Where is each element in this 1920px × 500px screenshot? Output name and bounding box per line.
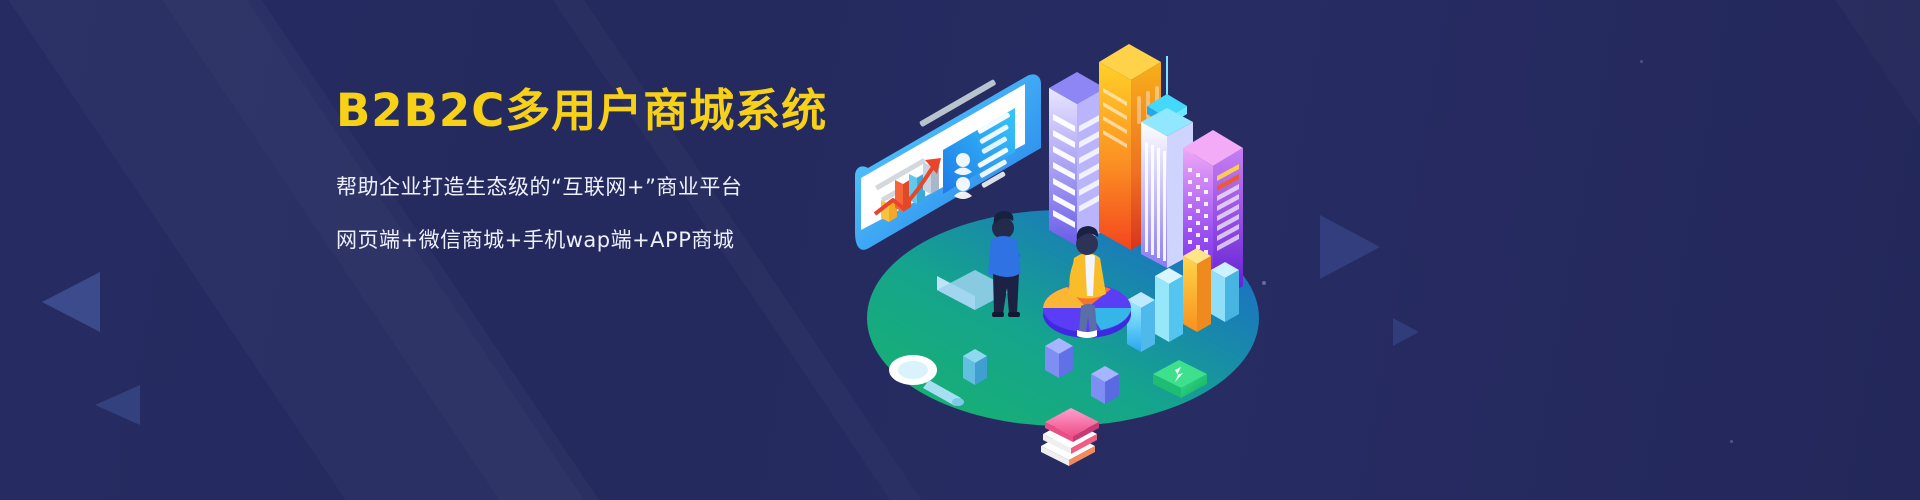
dot-decoration xyxy=(1730,440,1733,443)
triangle-decoration xyxy=(95,385,140,425)
promo-banner: B2B2C多用户商城系统 帮助企业打造生态级的“互联网+”商业平台 网页端+微信… xyxy=(0,0,1920,500)
dot-decoration xyxy=(1640,60,1643,63)
skyscraper-tower xyxy=(1049,72,1105,246)
page-title: B2B2C多用户商城系统 xyxy=(336,88,856,133)
ground-block xyxy=(1045,338,1073,378)
subtitle-line-1: 帮助企业打造生态级的“互联网+”商业平台 xyxy=(336,177,856,198)
triangle-decoration xyxy=(1320,215,1380,279)
ground-block xyxy=(1091,366,1119,404)
triangle-decoration xyxy=(1393,318,1419,346)
subtitle-line-2: 网页端+微信商城+手机wap端+APP商城 xyxy=(336,230,856,251)
banner-copy: B2B2C多用户商城系统 帮助企业打造生态级的“互联网+”商业平台 网页端+微信… xyxy=(336,88,856,251)
triangle-decoration xyxy=(42,272,100,332)
hero-illustration xyxy=(845,18,1275,488)
ground-block xyxy=(963,349,987,385)
